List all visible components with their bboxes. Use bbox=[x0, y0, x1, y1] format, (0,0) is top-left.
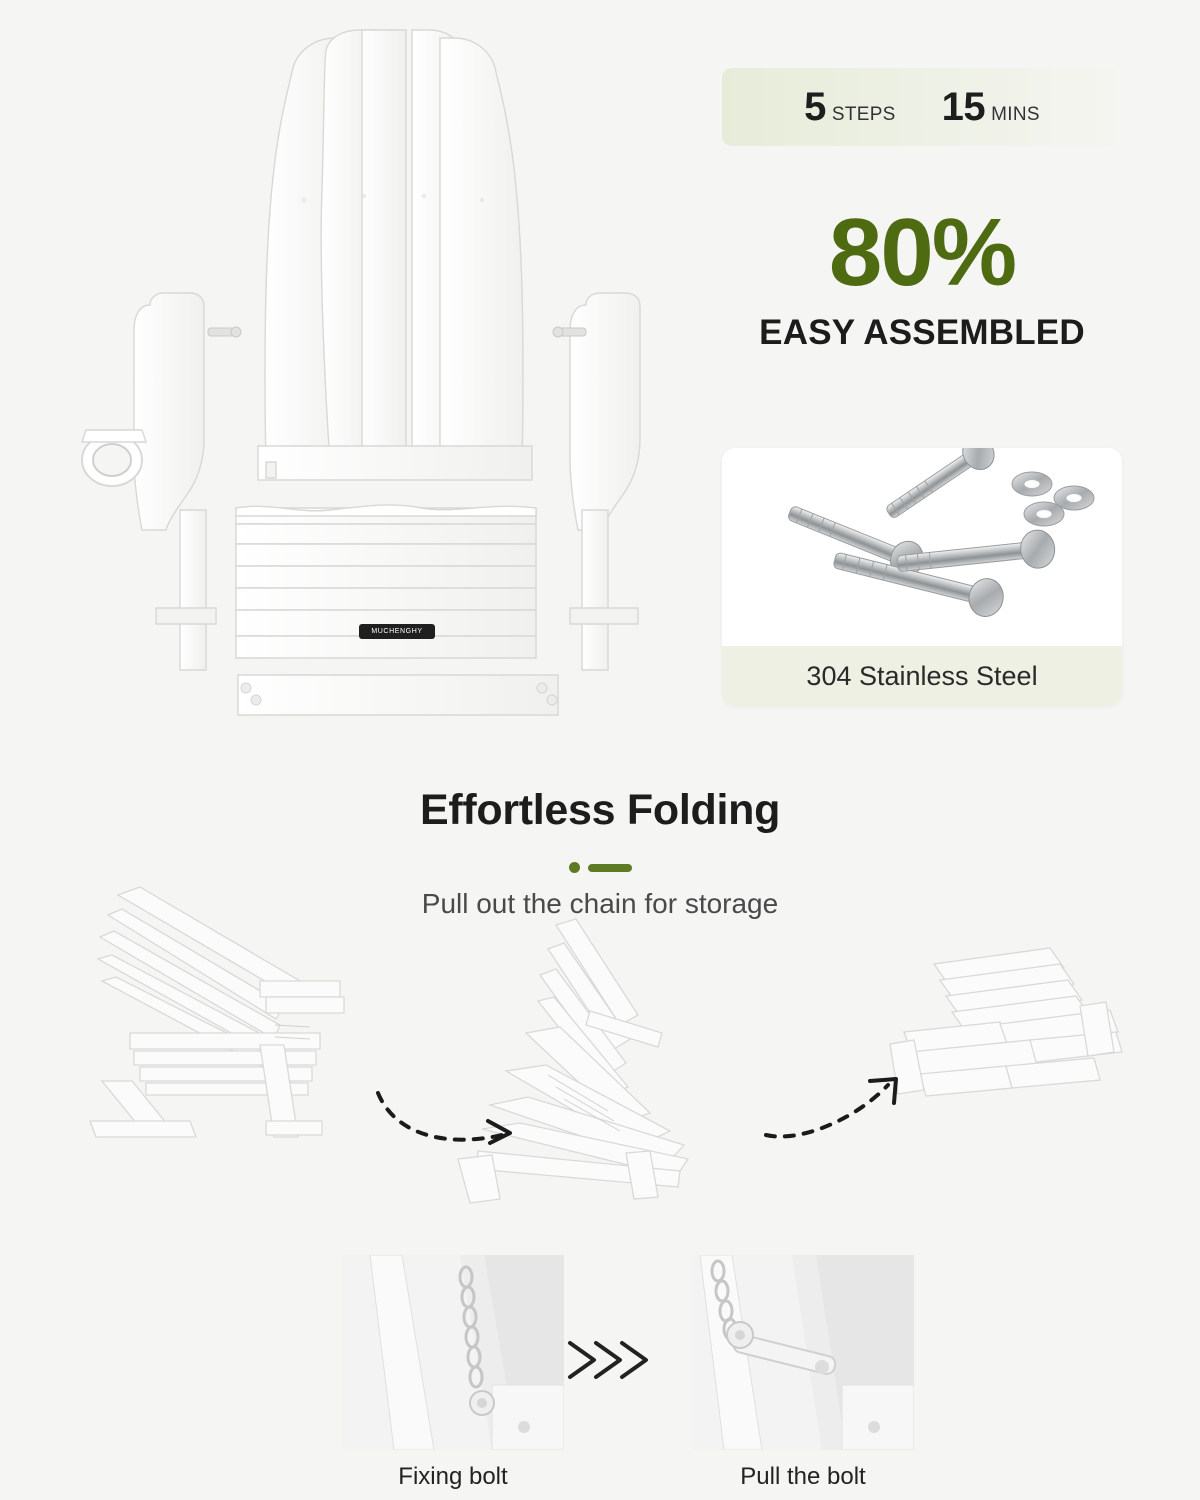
hardware-photo bbox=[722, 448, 1122, 646]
folding-step-2-illustration bbox=[430, 915, 760, 1215]
brand-tag: MUCHENGHY bbox=[359, 624, 435, 639]
pull-the-bolt-caption: Pull the bolt bbox=[692, 1463, 914, 1491]
percent-subtitle: EASY ASSEMBLED bbox=[722, 313, 1122, 353]
fixing-bolt-svg bbox=[342, 1255, 564, 1450]
mins-item: 15 MINS bbox=[942, 85, 1040, 130]
exploded-chair-illustration: MUCHENGHY bbox=[30, 10, 690, 740]
percent-value: 80% bbox=[722, 205, 1122, 301]
steps-value: 5 bbox=[804, 85, 826, 130]
top-section: MUCHENGHY 5 STEPS 15 MINS 80% EASY ASSEM… bbox=[0, 0, 1200, 760]
hardware-card: 304 Stainless Steel bbox=[722, 448, 1122, 706]
divider-dot bbox=[569, 862, 580, 873]
chevrons-right-icon bbox=[560, 1335, 670, 1385]
divider-bar bbox=[588, 864, 632, 872]
bolt-detail-row: Fixing bolt bbox=[0, 1255, 1200, 1500]
dashed-arrow-icon bbox=[760, 1075, 920, 1155]
product-infographic-page: MUCHENGHY 5 STEPS 15 MINS 80% EASY ASSEM… bbox=[0, 0, 1200, 1500]
hardware-label: 304 Stainless Steel bbox=[722, 646, 1122, 706]
folding-step-1-illustration bbox=[70, 885, 380, 1175]
steps-unit: STEPS bbox=[832, 104, 896, 126]
folding-title: Effortless Folding bbox=[0, 786, 1200, 835]
section-divider bbox=[0, 862, 1200, 873]
steps-time-badge: 5 STEPS 15 MINS bbox=[722, 68, 1122, 146]
mins-unit: MINS bbox=[991, 104, 1040, 126]
easy-assembled-headline: 80% EASY ASSEMBLED bbox=[722, 205, 1122, 353]
mins-value: 15 bbox=[942, 85, 986, 130]
dashed-arrow-icon bbox=[370, 1085, 530, 1155]
fixing-bolt-photo bbox=[342, 1255, 564, 1450]
pull-the-bolt-svg bbox=[692, 1255, 914, 1450]
steps-item: 5 STEPS bbox=[804, 85, 896, 130]
folding-steps-row bbox=[0, 940, 1200, 1230]
pull-the-bolt-photo bbox=[692, 1255, 914, 1450]
fixing-bolt-caption: Fixing bolt bbox=[342, 1463, 564, 1491]
stainless-hardware-svg bbox=[722, 448, 1122, 646]
